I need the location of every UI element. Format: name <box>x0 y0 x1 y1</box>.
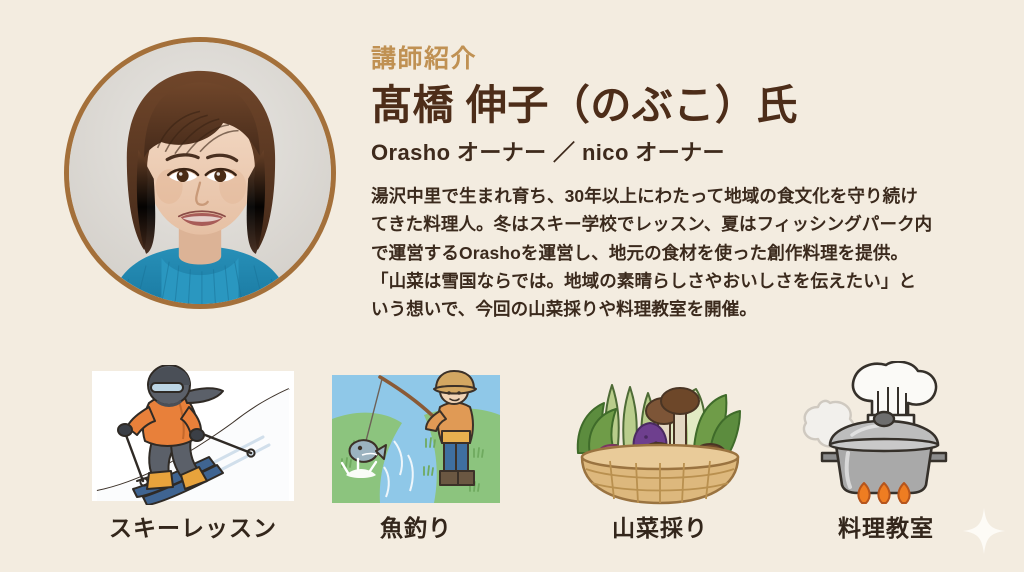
instructor-intro-block: 講師紹介 髙橋 伸子（のぶこ）氏 Orasho オーナー ／ nico オーナー… <box>371 44 1001 324</box>
bio-line: てきた料理人。冬はスキー学校でレッスン、夏はフィッシングパーク内 <box>371 210 989 238</box>
sparkle-icon <box>963 508 1005 554</box>
avatar <box>64 37 336 309</box>
cooking-pot-icon <box>766 360 1006 505</box>
slide-root: 講師紹介 髙橋 伸子（のぶこ）氏 Orasho オーナー ／ nico オーナー… <box>0 0 1024 572</box>
instructor-bio: 湯沢中里で生まれ育ち、30年以上にわたって地域の食文化を守り続け てきた料理人。… <box>371 182 989 324</box>
bio-line: で運営するOrashoを運営し、地元の食材を使った創作料理を提供。 <box>371 239 989 267</box>
skier-icon <box>73 360 313 505</box>
avatar-ring <box>64 37 336 309</box>
bio-line: 「山菜は雪国ならでは。地域の素晴らしさやおいしさを伝えたい」と <box>371 267 989 295</box>
fishing-icon <box>296 360 536 505</box>
activity-item-ski: スキーレッスン <box>73 360 313 543</box>
vegetable-basket-icon <box>540 360 780 505</box>
page-title: 髙橋 伸子（のぶこ）氏 <box>371 80 1001 131</box>
activity-item-foraging: 山菜採り <box>540 360 780 543</box>
bio-line: 湯沢中里で生まれ育ち、30年以上にわたって地域の食文化を守り続け <box>371 182 989 210</box>
portrait-photo <box>69 42 331 304</box>
activity-label: 魚釣り <box>296 515 536 543</box>
activity-label: スキーレッスン <box>73 515 313 543</box>
section-eyebrow: 講師紹介 <box>371 44 1001 74</box>
activity-label: 山菜採り <box>540 515 780 543</box>
instructor-role: Orasho オーナー ／ nico オーナー <box>371 139 1001 168</box>
activity-item-fishing: 魚釣り <box>296 360 536 543</box>
activity-icon-row: スキーレッスン <box>0 360 1024 560</box>
bio-line: いう想いで、今回の山菜採りや料理教室を開催。 <box>371 295 989 323</box>
